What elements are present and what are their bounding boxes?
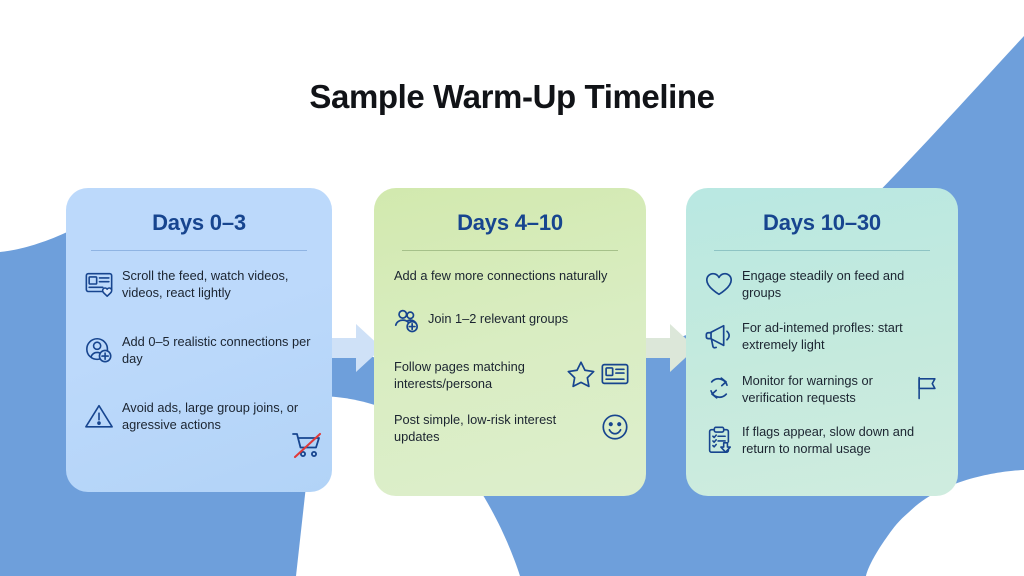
- heart-icon: [700, 265, 738, 303]
- smiley-face-icon: [598, 410, 632, 444]
- infographic-canvas: Sample Warm-Up Timeline Days 0–3: [0, 0, 1024, 576]
- feed-card-heart-icon: [80, 265, 118, 303]
- list-item-text: Monitor for warnings or verification req…: [738, 370, 910, 406]
- list-item: For ad-intemed profles: start extremely …: [700, 317, 944, 355]
- list-item-text: Join 1–2 relevant groups: [426, 301, 568, 327]
- card-item-list: Scroll the feed, watch videos, videos, r…: [66, 265, 332, 435]
- card-item-list: Add a few more connections naturally Joi…: [374, 265, 646, 445]
- list-item-text: If flags appear, slow down and return to…: [738, 421, 944, 457]
- list-item: Follow pages matching interests/persona: [388, 356, 632, 392]
- flag-icon: [910, 371, 944, 405]
- no-ads-cart-icon: [290, 428, 324, 462]
- list-item-text: Avoid ads, large group joins, or agressi…: [118, 397, 318, 433]
- card-item-list: Engage steadily on feed and groups For a…: [686, 265, 958, 459]
- group-add-icon: [388, 301, 426, 339]
- star-icon: [564, 357, 598, 391]
- card-title-days-4-10: Days 4–10: [374, 210, 646, 236]
- list-item: Avoid ads, large group joins, or agressi…: [80, 397, 318, 435]
- megaphone-icon: [700, 317, 738, 355]
- list-item: Join 1–2 relevant groups: [388, 301, 632, 339]
- list-item: Engage steadily on feed and groups: [700, 265, 944, 303]
- card-divider: [402, 250, 618, 251]
- card-divider: [91, 250, 307, 251]
- page-title: Sample Warm-Up Timeline: [0, 78, 1024, 116]
- list-item-text: Scroll the feed, watch videos, videos, r…: [118, 265, 318, 301]
- list-item-text: Follow pages matching interests/persona: [388, 356, 564, 392]
- card-divider: [714, 250, 930, 251]
- list-item-text: Add a few more connections naturally: [388, 265, 607, 284]
- timeline-card-days-4-10: Days 4–10 Add a few more connections nat…: [374, 188, 646, 496]
- list-item-text: Add 0–5 realistic connections per day: [118, 331, 318, 367]
- warning-triangle-icon: [80, 397, 118, 435]
- list-item: If flags appear, slow down and return to…: [700, 421, 944, 459]
- list-item: Monitor for warnings or verification req…: [700, 369, 944, 407]
- list-item-text: For ad-intemed profles: start extremely …: [738, 317, 944, 353]
- person-add-icon: [80, 331, 118, 369]
- card-title-days-0-3: Days 0–3: [66, 210, 332, 236]
- timeline-card-days-10-30: Days 10–30 Engage steadily on feed and g…: [686, 188, 958, 496]
- card-title-days-10-30: Days 10–30: [686, 210, 958, 236]
- list-item-text: Engage steadily on feed and groups: [738, 265, 944, 301]
- list-item: Scroll the feed, watch videos, videos, r…: [80, 265, 318, 303]
- list-item: Post simple, low-risk interest updates: [388, 409, 632, 445]
- list-item: Add 0–5 realistic connections per day: [80, 331, 318, 369]
- clipboard-checklist-down-icon: [700, 421, 738, 459]
- sync-refresh-icon: [700, 369, 738, 407]
- profile-page-icon: [598, 357, 632, 391]
- list-item: Add a few more connections naturally: [388, 265, 632, 284]
- list-item-text: Post simple, low-risk interest updates: [388, 409, 598, 445]
